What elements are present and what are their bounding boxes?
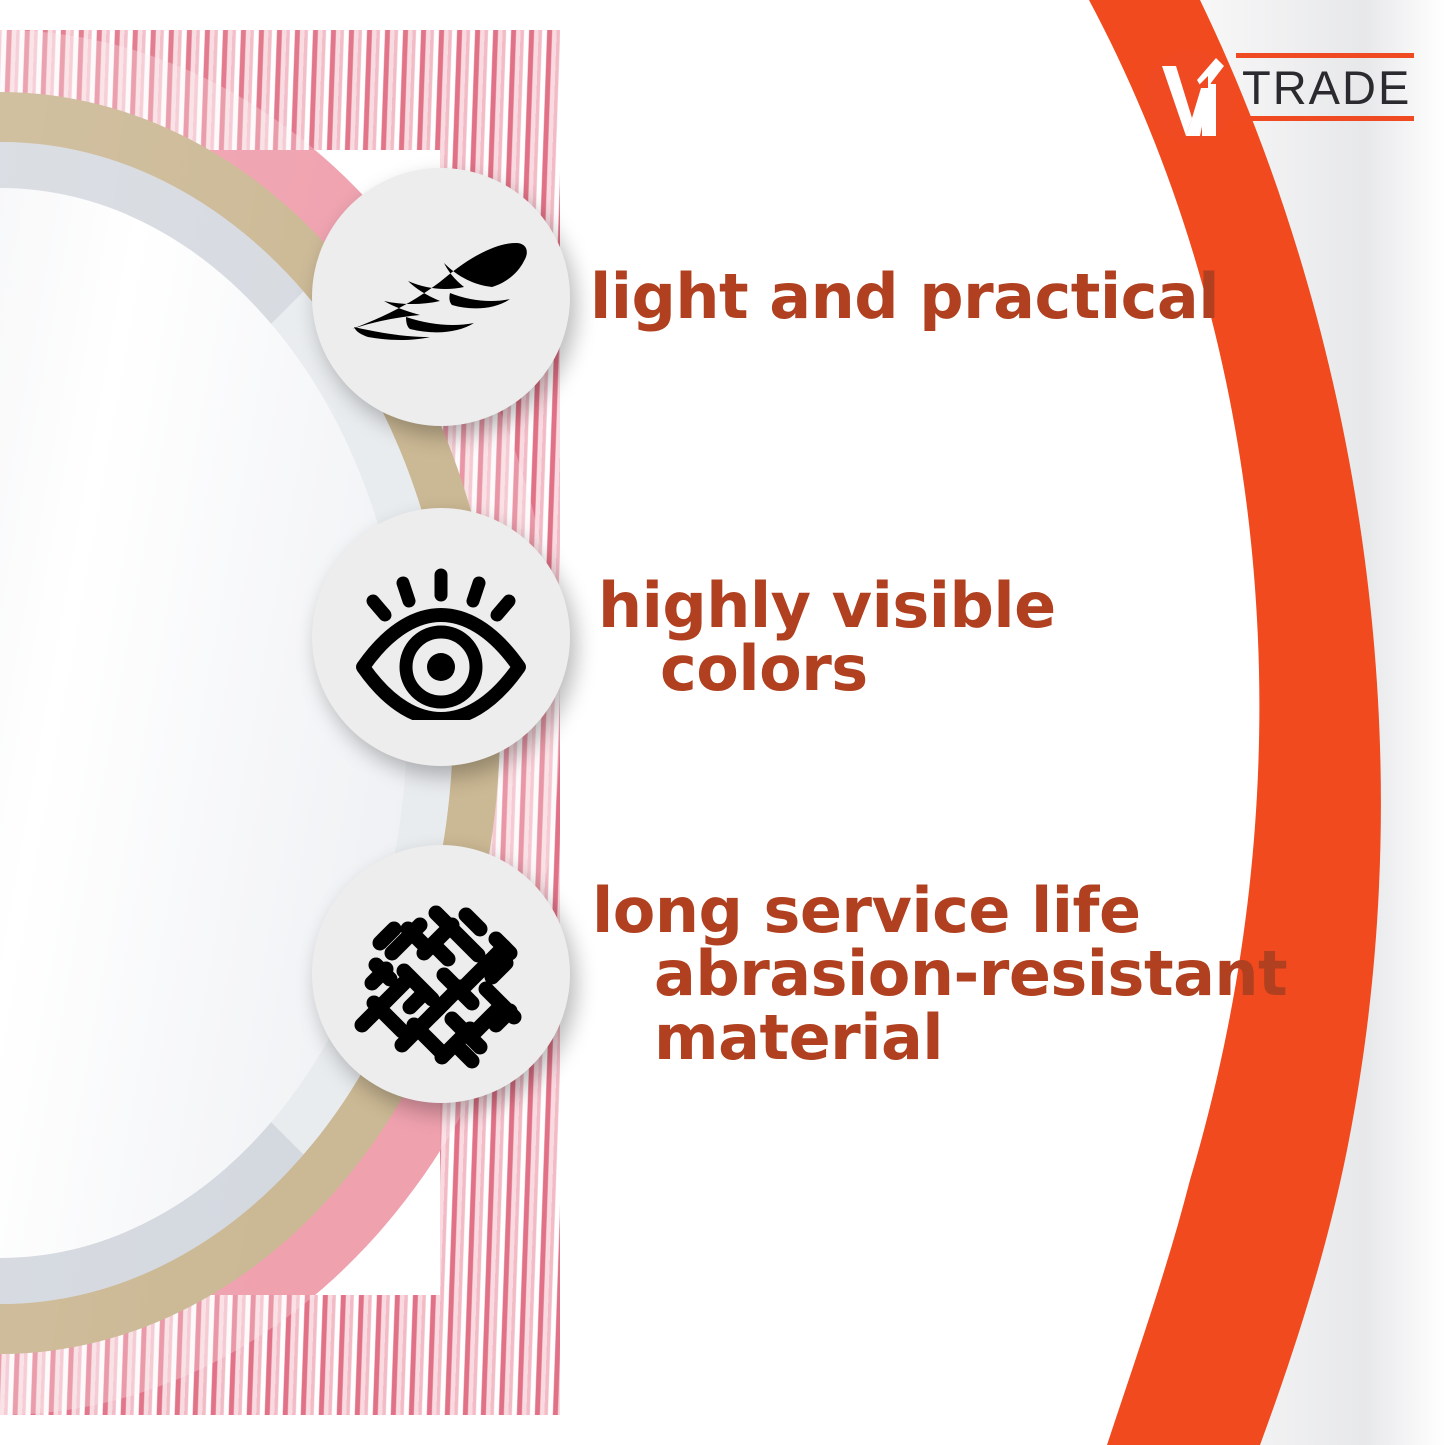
feature-icon-circle-2 (312, 508, 570, 766)
v1-monogram-icon (1140, 44, 1244, 148)
logo-wordmark-block: TRADE (1236, 53, 1414, 121)
woven-texture-icon (346, 879, 536, 1069)
feature-label-2-line-2: colors (598, 637, 1056, 700)
feature-label-1: light and practical (590, 265, 1219, 328)
feature-icon-circle-1 (312, 168, 570, 426)
feature-row-light-and-practical[interactable]: light and practical (312, 168, 1219, 426)
logo-wordmark: TRADE (1236, 58, 1414, 116)
feature-label-3-line-2: abrasion-resistant (592, 942, 1287, 1005)
feature-label-3: long service life abrasion-resistant mat… (592, 879, 1287, 1069)
feature-icon-circle-3 (312, 845, 570, 1103)
feature-row-highly-visible-colors[interactable]: highly visible colors (312, 508, 1056, 766)
infographic-canvas: TRADE light and practical (0, 0, 1445, 1445)
feature-label-2: highly visible colors (598, 574, 1056, 700)
feature-label-1-line-1: light and practical (590, 265, 1219, 328)
feature-label-3-line-1: long service life (592, 879, 1287, 942)
feature-label-3-line-3: material (592, 1006, 1287, 1069)
feather-icon (346, 237, 536, 357)
feature-label-2-line-1: highly visible (598, 574, 1056, 637)
eye-icon (351, 555, 531, 720)
feature-row-long-service-life[interactable]: long service life abrasion-resistant mat… (312, 845, 1287, 1103)
logo-rule-bottom (1236, 116, 1414, 121)
brand-logo[interactable]: TRADE (1140, 40, 1415, 152)
